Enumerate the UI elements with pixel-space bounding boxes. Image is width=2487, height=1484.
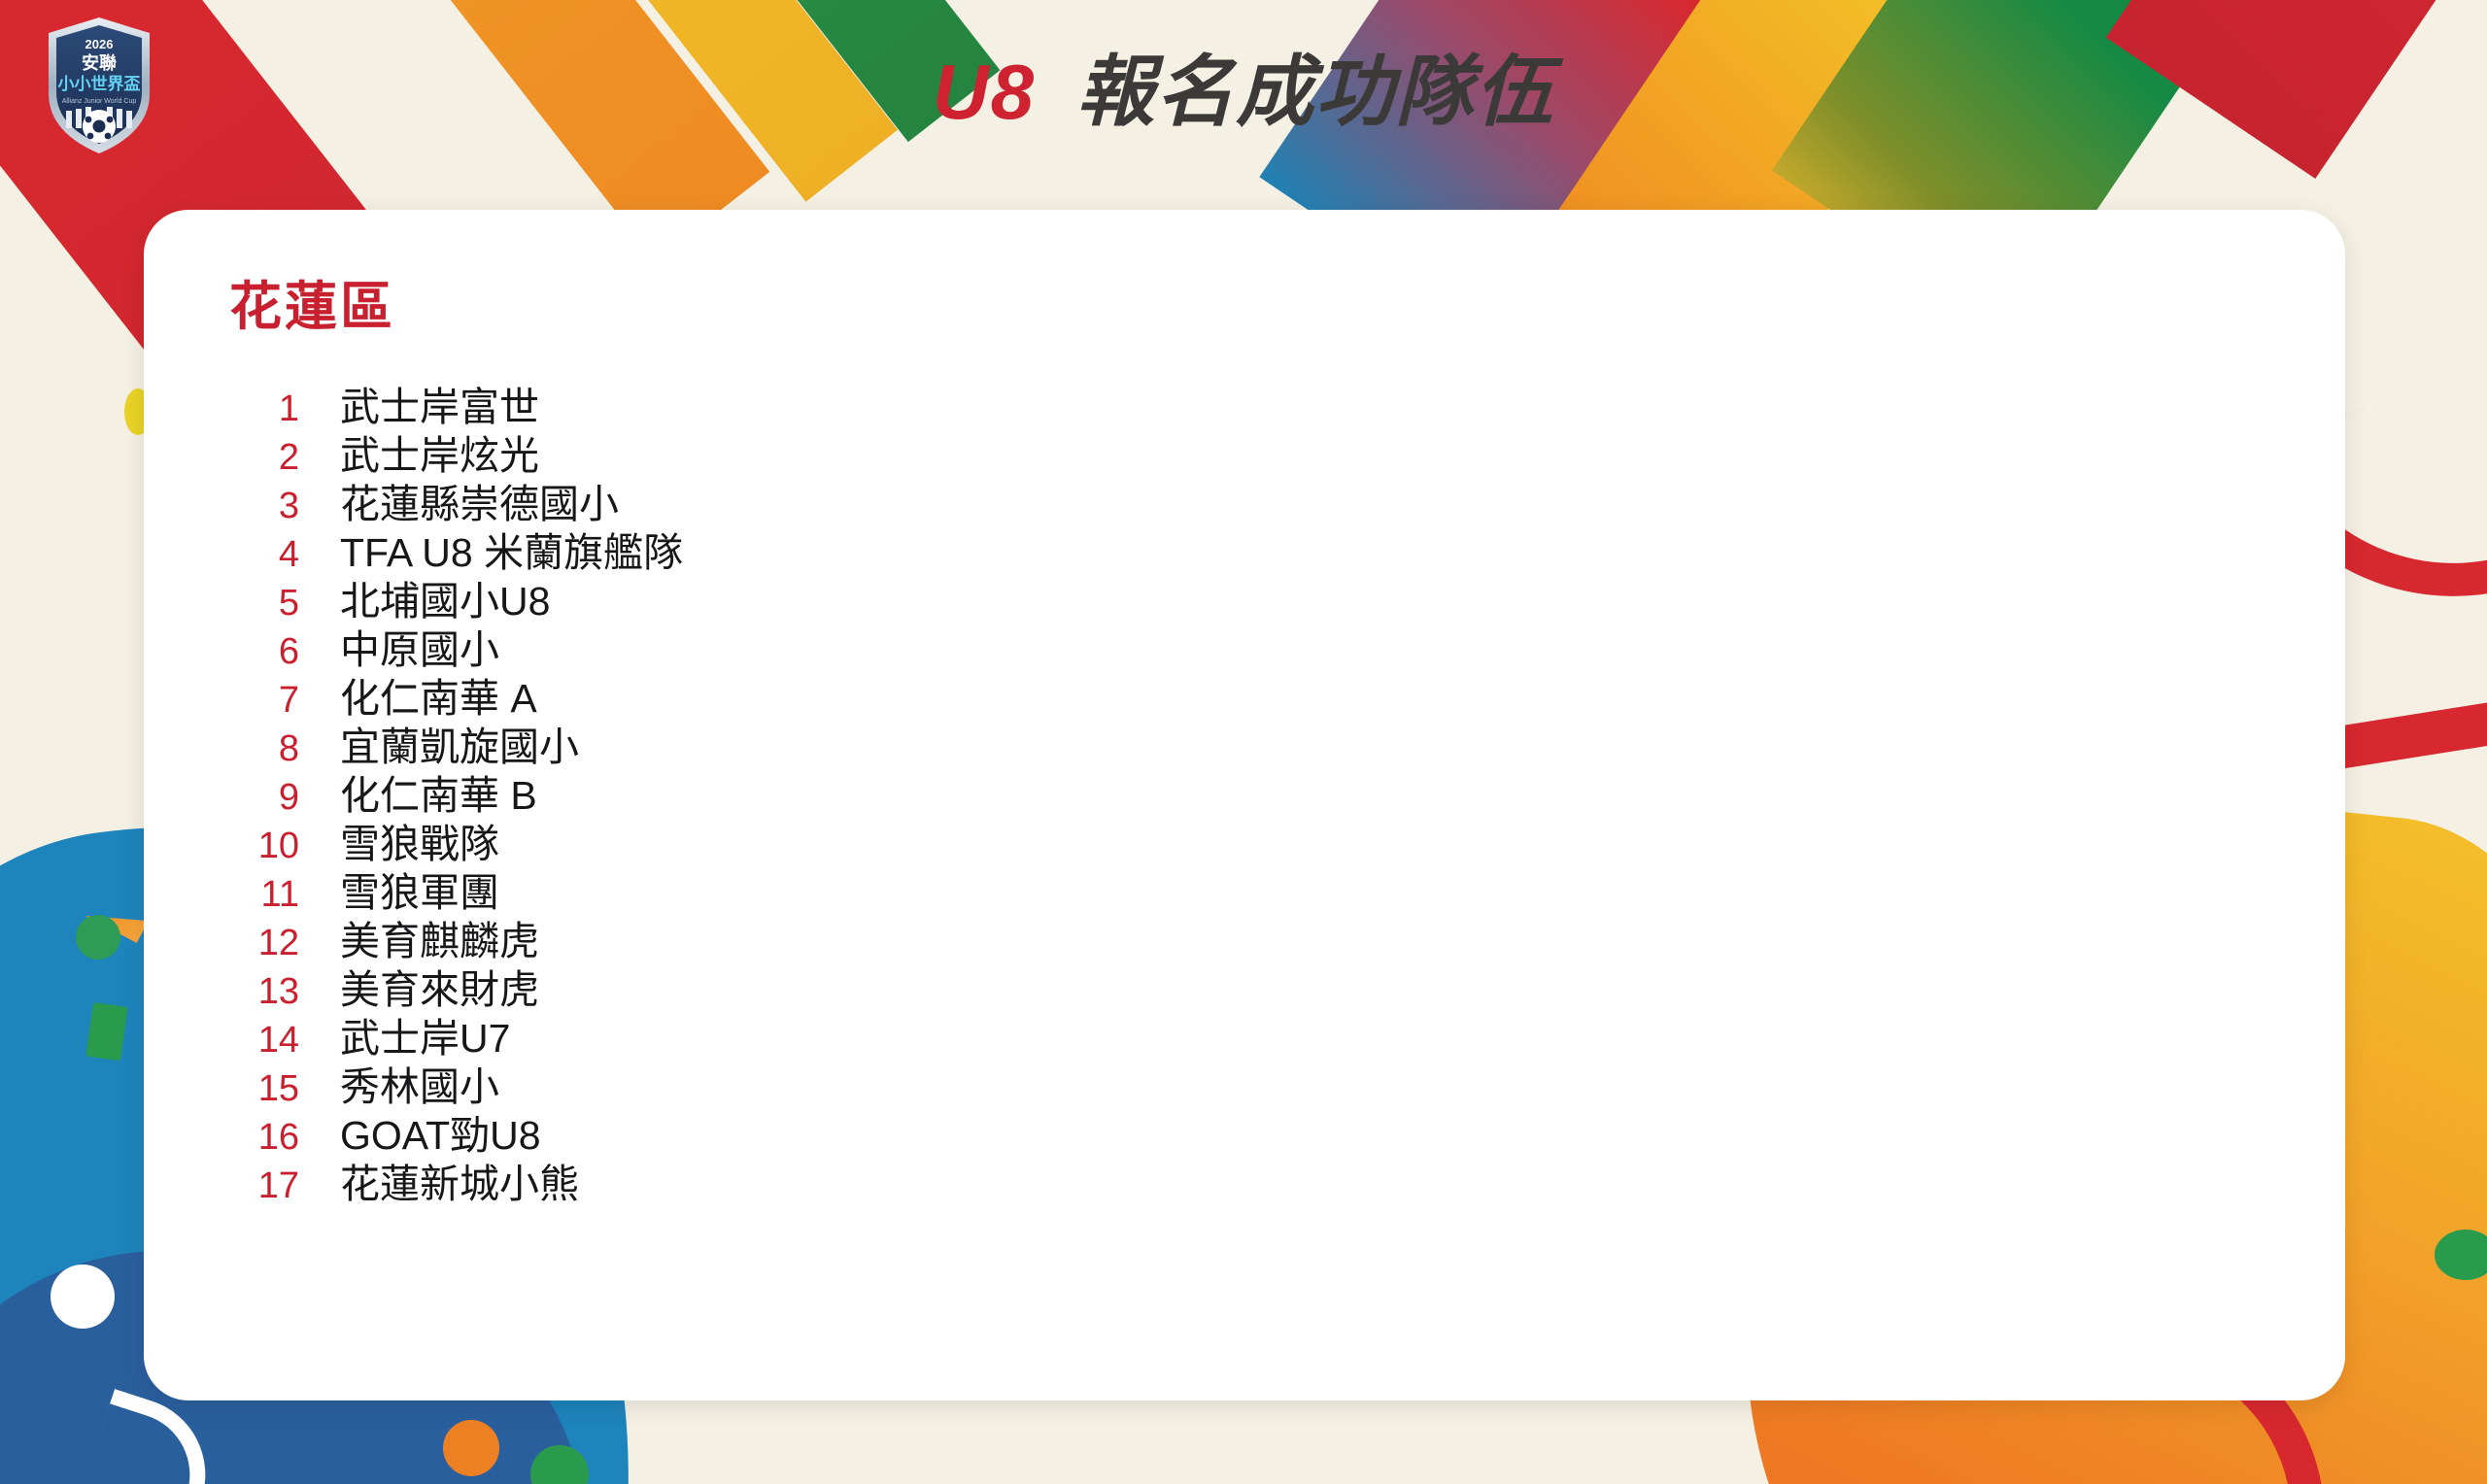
team-name: 武士岸U7 <box>340 1014 510 1062</box>
team-number: 13 <box>229 967 299 1016</box>
team-number: 6 <box>229 627 299 676</box>
team-name: 雪狼軍團 <box>340 868 499 917</box>
team-number: 9 <box>229 773 299 822</box>
logo-subtitle: Allianz Junior World Cup <box>62 98 137 105</box>
team-number: 11 <box>229 870 299 919</box>
team-number: 10 <box>229 822 299 870</box>
dot-orange-bottom <box>443 1420 499 1476</box>
team-name: TFA U8 米蘭旗艦隊 <box>340 528 683 577</box>
team-name: 化仁南華 A <box>340 674 537 723</box>
team-name: 中原國小 <box>340 625 499 674</box>
team-name: 宜蘭凱旋國小 <box>340 723 579 771</box>
team-name: 化仁南華 B <box>340 771 537 820</box>
dot-white-bottom-left <box>51 1265 115 1329</box>
list-item: 7化仁南華 A <box>229 674 683 723</box>
list-item: 10雪狼戰隊 <box>229 820 683 868</box>
team-number: 4 <box>229 530 299 579</box>
team-number: 12 <box>229 919 299 967</box>
team-number: 7 <box>229 676 299 725</box>
region-title: 花蓮區 <box>229 263 395 340</box>
list-item: 6中原國小 <box>229 625 683 674</box>
tournament-logo: 2026 安聯 小小世界盃 Allianz Junior World Cup <box>41 14 157 157</box>
team-name: 武士岸炫光 <box>340 431 539 480</box>
team-number: 14 <box>229 1016 299 1064</box>
team-number: 5 <box>229 579 299 627</box>
list-item: 2武士岸炫光 <box>229 431 683 480</box>
page-title-age-group: U8 <box>933 49 1036 135</box>
team-number: 17 <box>229 1162 299 1210</box>
list-item: 12美育麒麟虎 <box>229 917 683 965</box>
team-name: GOAT勁U8 <box>340 1111 541 1160</box>
team-name: 雪狼戰隊 <box>340 820 499 868</box>
list-item: 16GOAT勁U8 <box>229 1111 683 1160</box>
list-item: 5北埔國小U8 <box>229 577 683 625</box>
list-item: 4TFA U8 米蘭旗艦隊 <box>229 528 683 577</box>
team-number: 3 <box>229 482 299 530</box>
list-item: 9化仁南華 B <box>229 771 683 820</box>
list-item: 14武士岸U7 <box>229 1014 683 1062</box>
team-number: 1 <box>229 385 299 433</box>
content-card: 花蓮區 1武士岸富世2武士岸炫光3花蓮縣崇德國小4TFA U8 米蘭旗艦隊5北埔… <box>144 210 2345 1400</box>
team-number: 8 <box>229 725 299 773</box>
list-item: 8宜蘭凱旋國小 <box>229 723 683 771</box>
team-name: 武士岸富世 <box>340 383 539 431</box>
dot-green-bottom-left <box>76 915 120 960</box>
page-title-text: 報名成功隊伍 <box>1076 49 1554 135</box>
logo-year: 2026 <box>85 37 114 51</box>
team-number: 15 <box>229 1064 299 1113</box>
team-number: 2 <box>229 433 299 482</box>
team-name: 花蓮縣崇德國小 <box>340 480 619 528</box>
team-name: 秀林國小 <box>340 1062 499 1111</box>
logo-line1: 安聯 <box>82 52 117 73</box>
list-item: 3花蓮縣崇德國小 <box>229 480 683 528</box>
team-name: 美育來財虎 <box>340 965 539 1014</box>
team-number: 16 <box>229 1113 299 1162</box>
shield-badge-icon: 2026 安聯 小小世界盃 Allianz Junior World Cup <box>41 14 157 157</box>
square-green-bottom-left <box>85 1002 127 1061</box>
list-item: 15秀林國小 <box>229 1062 683 1111</box>
team-name: 北埔國小U8 <box>340 577 550 625</box>
list-item: 17花蓮新城小熊 <box>229 1160 683 1208</box>
logo-line2: 小小世界盃 <box>58 75 141 93</box>
team-name: 美育麒麟虎 <box>340 917 539 965</box>
team-name: 花蓮新城小熊 <box>340 1160 579 1208</box>
list-item: 1武士岸富世 <box>229 383 683 431</box>
page-title: U8報名成功隊伍 <box>0 29 2487 142</box>
registered-teams-list: 1武士岸富世2武士岸炫光3花蓮縣崇德國小4TFA U8 米蘭旗艦隊5北埔國小U8… <box>229 383 683 1208</box>
list-item: 13美育來財虎 <box>229 965 683 1014</box>
list-item: 11雪狼軍團 <box>229 868 683 917</box>
